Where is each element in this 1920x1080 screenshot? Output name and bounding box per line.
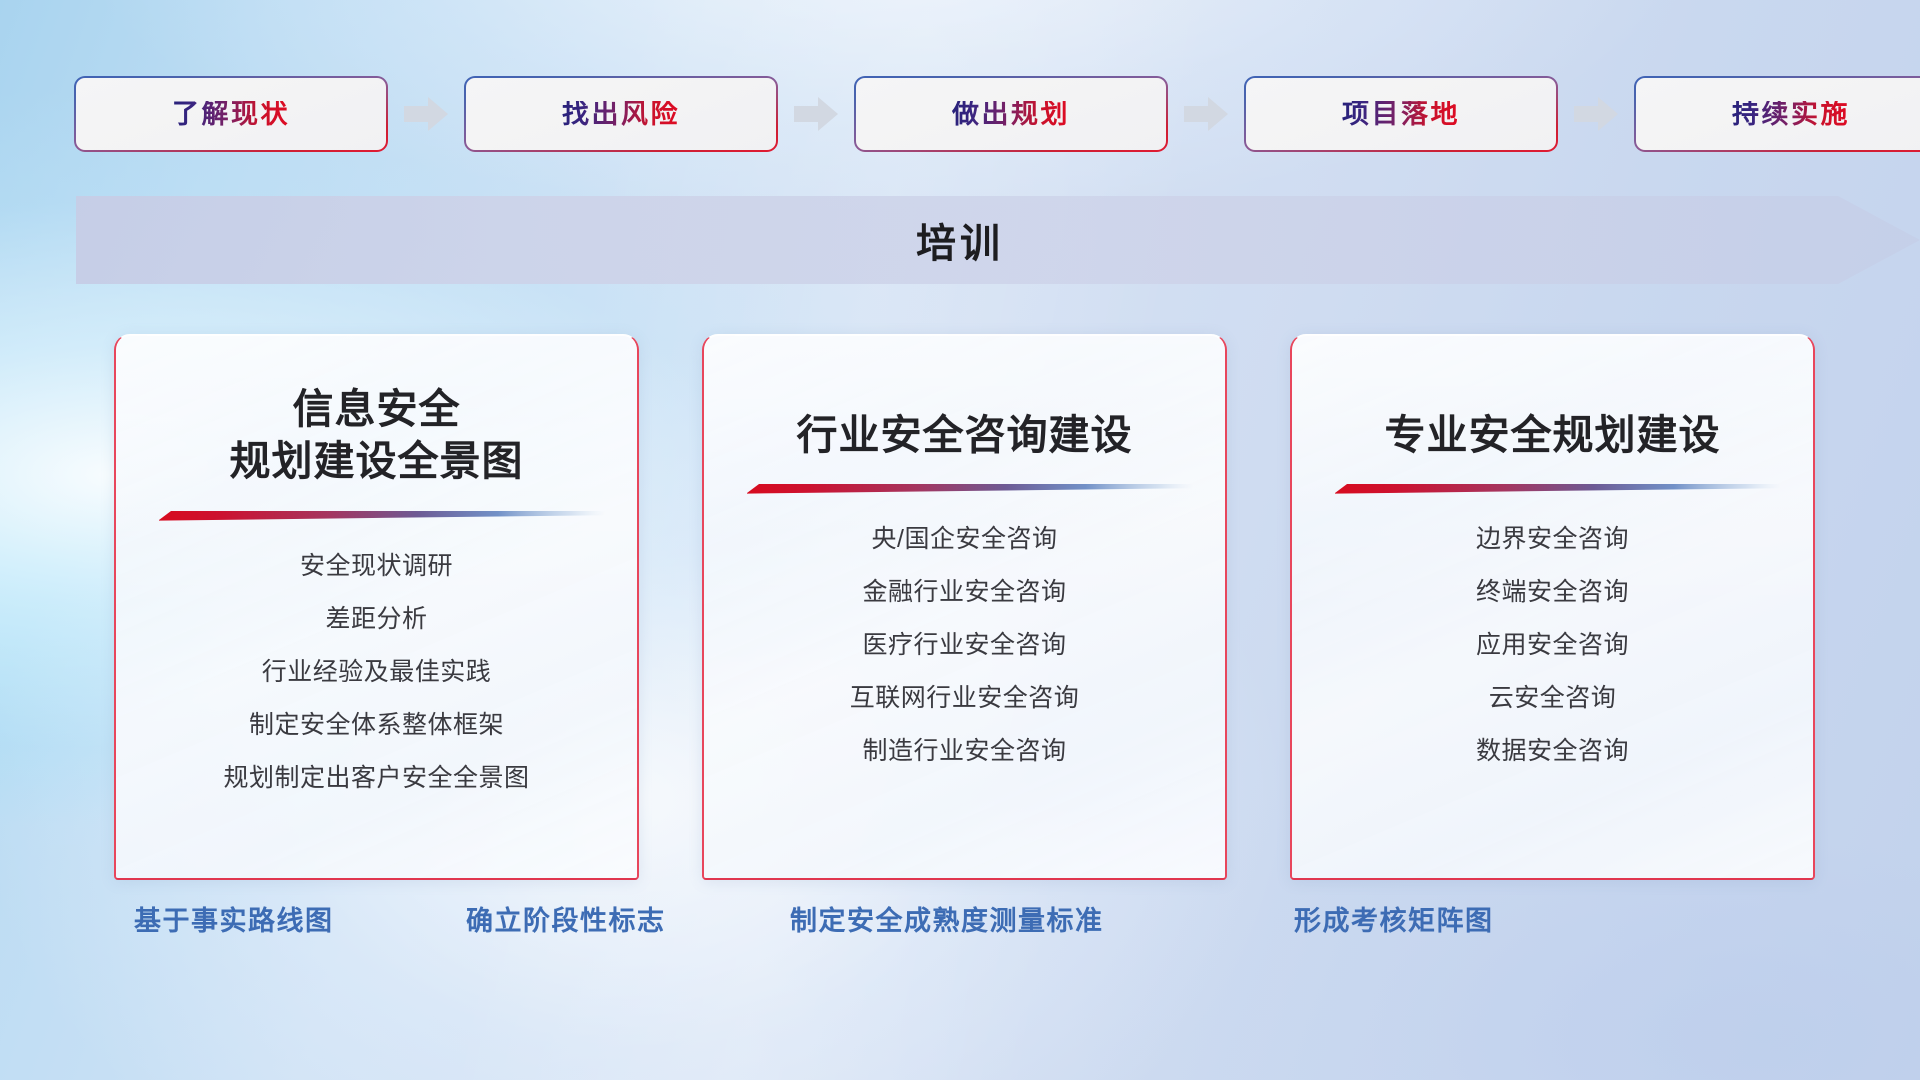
flow-step-1-label: 了解现状 [172, 101, 290, 128]
bottom-label-row: 基于事实路线图 确立阶段性标志 制定安全成熟度测量标准 形成考核矩阵图 [0, 908, 1920, 966]
flow-step-5[interactable]: 持续实施 [1636, 78, 1920, 150]
list-item: 医疗行业安全咨询 [704, 633, 1225, 658]
tapered-gradient-divider-icon [1325, 481, 1781, 497]
card-title: 信息安全 规划建设全景图 [230, 383, 524, 488]
list-item: 制定安全体系整体框架 [116, 713, 637, 738]
tapered-gradient-divider-icon [149, 508, 605, 524]
process-flow: 了解现状 找出风险 做出规划 项目落地 持续实施 [0, 72, 1920, 156]
card-item-list: 安全现状调研 差距分析 行业经验及最佳实践 制定安全体系整体框架 规划制定出客户… [116, 554, 637, 819]
card-professional-security-planning[interactable]: 专业安全规划建设 边界安全咨询 终端安 [1290, 334, 1815, 880]
chevron-right-arrow-icon [404, 97, 448, 131]
card-item-list: 央/国企安全咨询 金融行业安全咨询 医疗行业安全咨询 互联网行业安全咨询 制造行… [704, 527, 1225, 792]
flow-step-3-label: 做出规划 [952, 101, 1070, 128]
flow-step-4-label: 项目落地 [1342, 101, 1460, 128]
card-title: 行业安全咨询建设 [797, 409, 1133, 461]
list-item: 应用安全咨询 [1292, 633, 1813, 658]
list-item: 差距分析 [116, 607, 637, 632]
bottom-label-maturity: 制定安全成熟度测量标准 [790, 908, 1104, 935]
list-item: 边界安全咨询 [1292, 527, 1813, 552]
bottom-label-roadmap: 基于事实路线图 [134, 908, 334, 935]
list-item: 数据安全咨询 [1292, 739, 1813, 764]
list-item: 金融行业安全咨询 [704, 580, 1225, 605]
list-item: 规划制定出客户安全全景图 [116, 766, 637, 791]
flow-step-1[interactable]: 了解现状 [76, 78, 386, 150]
list-item: 制造行业安全咨询 [704, 739, 1225, 764]
card-title: 专业安全规划建设 [1385, 409, 1721, 461]
tapered-gradient-divider-icon [737, 481, 1193, 497]
card-item-list: 边界安全咨询 终端安全咨询 应用安全咨询 云安全咨询 数据安全咨询 [1292, 527, 1813, 792]
flow-step-4[interactable]: 项目落地 [1246, 78, 1556, 150]
card-row: 信息安全 规划建设全景图 安全现状调研 [0, 334, 1920, 886]
flow-step-2[interactable]: 找出风险 [466, 78, 776, 150]
list-item: 云安全咨询 [1292, 686, 1813, 711]
bottom-label-matrix: 形成考核矩阵图 [1294, 908, 1494, 935]
list-item: 央/国企安全咨询 [704, 527, 1225, 552]
training-banner: 培训 [76, 196, 1920, 284]
chevron-right-arrow-icon [1184, 97, 1228, 131]
list-item: 互联网行业安全咨询 [704, 686, 1225, 711]
card-information-security-panorama[interactable]: 信息安全 规划建设全景图 安全现状调研 [114, 334, 639, 880]
card-industry-security-consulting[interactable]: 行业安全咨询建设 央/国企安全咨询 金 [702, 334, 1227, 880]
list-item: 安全现状调研 [116, 554, 637, 579]
list-item: 终端安全咨询 [1292, 580, 1813, 605]
bottom-label-milestone: 确立阶段性标志 [466, 908, 666, 935]
flow-step-3[interactable]: 做出规划 [856, 78, 1166, 150]
training-banner-label: 培训 [76, 196, 1844, 284]
chevron-right-arrow-icon [1574, 97, 1618, 131]
flow-step-5-label: 持续实施 [1732, 101, 1850, 128]
chevron-right-arrow-icon [794, 97, 838, 131]
flow-step-2-label: 找出风险 [562, 101, 680, 128]
list-item: 行业经验及最佳实践 [116, 660, 637, 685]
